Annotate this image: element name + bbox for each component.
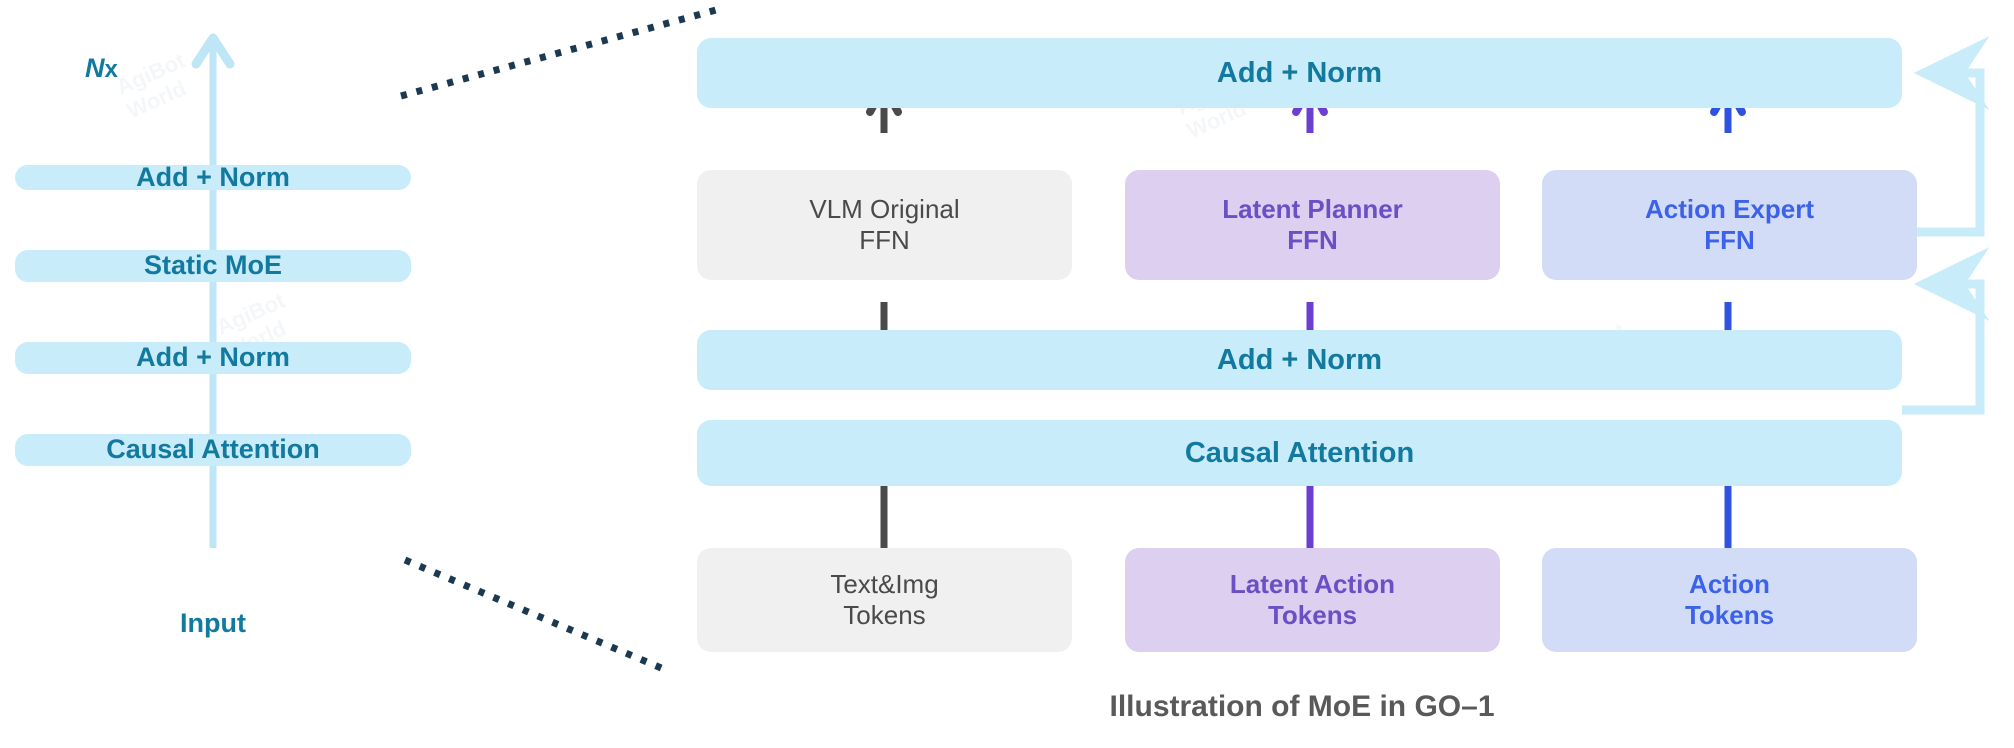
- token-label-line2: Tokens: [1685, 600, 1774, 631]
- ffn-label-line2: FFN: [859, 225, 910, 256]
- left-block-add-norm-top[interactable]: Add + Norm: [15, 165, 411, 190]
- residual-lower: [1902, 284, 1980, 410]
- token-label-line1: Action: [1689, 569, 1770, 600]
- ffn-label-line2: FFN: [1704, 225, 1755, 256]
- ffn-box-action-expert[interactable]: Action Expert FFN: [1542, 170, 1917, 280]
- figure-canvas: AgiBot World AgiBot World AgiBot World A…: [0, 0, 2014, 748]
- ffn-box-vlm-original[interactable]: VLM Original FFN: [697, 170, 1072, 280]
- repeat-count-n: N: [85, 53, 105, 83]
- right-block-add-norm-mid[interactable]: Add + Norm: [697, 330, 1902, 390]
- right-block-label: Add + Norm: [1217, 56, 1382, 90]
- left-block-add-norm-bottom[interactable]: Add + Norm: [15, 342, 411, 374]
- token-box-text-img[interactable]: Text&Img Tokens: [697, 548, 1072, 652]
- token-label-line2: Tokens: [843, 600, 925, 631]
- right-block-add-norm-top[interactable]: Add + Norm: [697, 38, 1902, 108]
- figure-caption: Illustration of MoE in GO–1: [707, 690, 1897, 724]
- left-spine: [196, 38, 230, 548]
- left-block-static-moe[interactable]: Static MoE: [15, 250, 411, 282]
- left-block-causal-attention[interactable]: Causal Attention: [15, 434, 411, 466]
- ffn-label-line1: Latent Planner: [1222, 194, 1403, 225]
- left-block-label: Static MoE: [144, 250, 282, 282]
- left-block-label: Add + Norm: [136, 342, 290, 374]
- right-block-label: Causal Attention: [1185, 436, 1414, 470]
- token-box-latent-action[interactable]: Latent Action Tokens: [1125, 548, 1500, 652]
- token-label-line2: Tokens: [1268, 600, 1357, 631]
- dotted-guide-top: [401, 10, 716, 96]
- repeat-count-label: Nx: [55, 22, 118, 115]
- ffn-box-latent-planner[interactable]: Latent Planner FFN: [1125, 170, 1500, 280]
- dotted-guide-bottom: [405, 560, 666, 670]
- token-box-action[interactable]: Action Tokens: [1542, 548, 1917, 652]
- left-block-label: Add + Norm: [136, 162, 290, 194]
- right-block-causal-attention[interactable]: Causal Attention: [697, 420, 1902, 486]
- token-label-line1: Latent Action: [1230, 569, 1395, 600]
- watermark: AgiBot World: [113, 48, 200, 125]
- token-label-line1: Text&Img: [830, 569, 938, 600]
- left-block-label: Causal Attention: [106, 434, 320, 466]
- repeat-count-x: x: [105, 56, 118, 83]
- ffn-label-line2: FFN: [1287, 225, 1338, 256]
- ffn-label-line1: Action Expert: [1645, 194, 1814, 225]
- right-block-label: Add + Norm: [1217, 343, 1382, 377]
- input-label: Input: [113, 608, 313, 639]
- ffn-label-line1: VLM Original: [809, 194, 959, 225]
